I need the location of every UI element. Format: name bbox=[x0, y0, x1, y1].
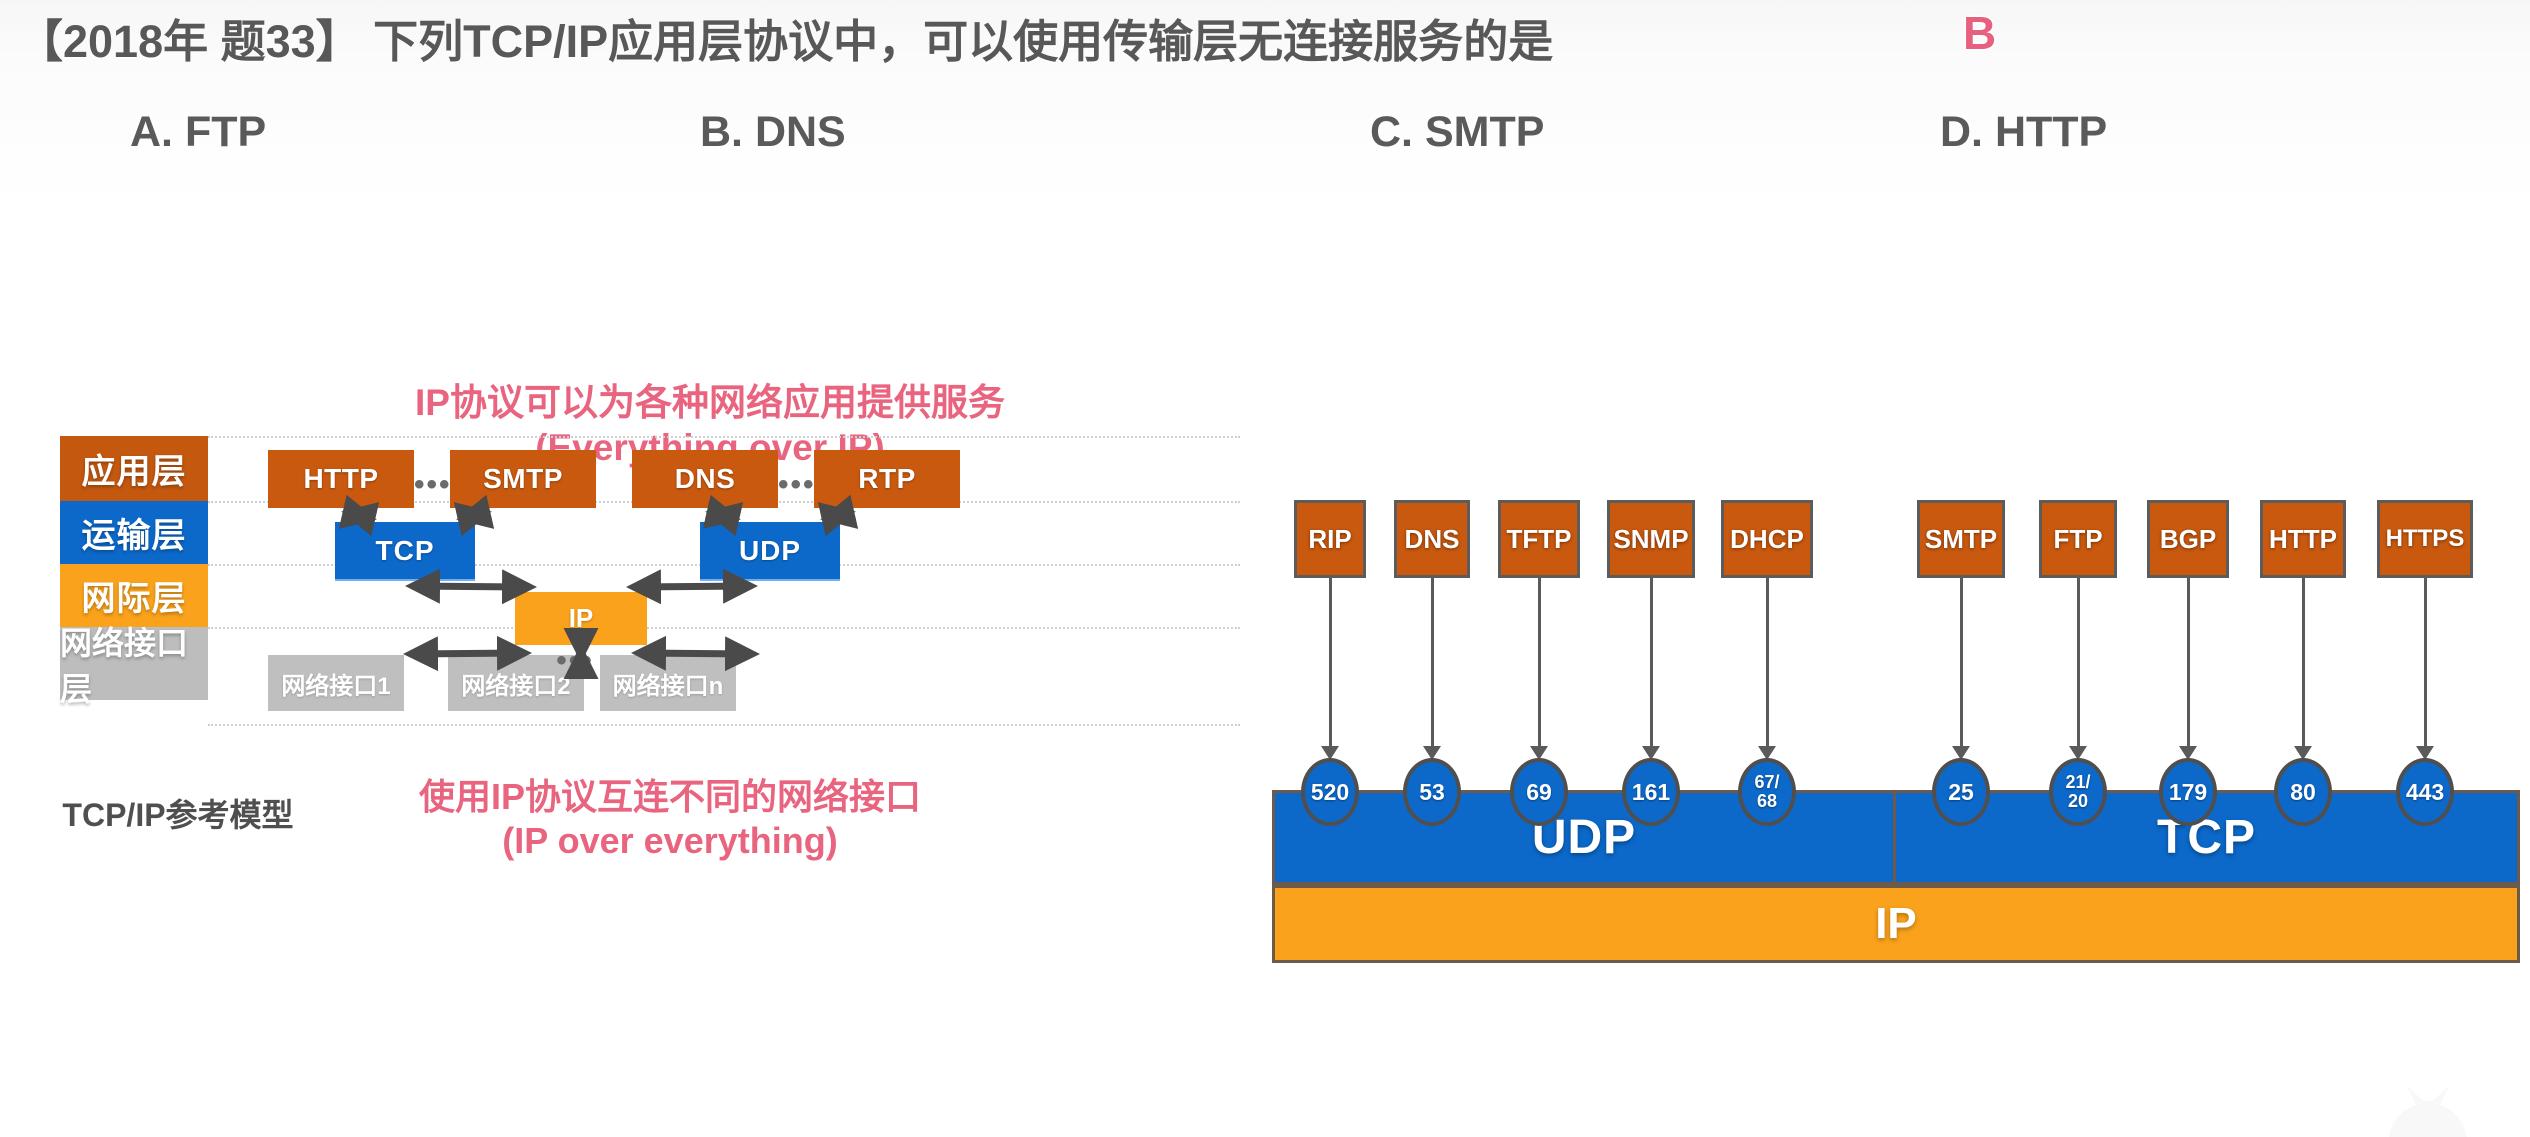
port-value-dhcp-line2: 68 bbox=[1757, 792, 1777, 811]
right-protocol-dns: DNS bbox=[1394, 500, 1470, 578]
option-b[interactable]: B. DNS bbox=[700, 108, 846, 157]
option-d[interactable]: D. HTTP bbox=[1940, 108, 2107, 157]
answer-badge: B bbox=[1963, 6, 1996, 60]
port-circle-smtp: 25 bbox=[1932, 758, 1990, 826]
left-caption-bottom-line1: 使用IP协议互连不同的网络接口 bbox=[300, 775, 1040, 819]
transport-layer-bar: UDP TCP bbox=[1272, 790, 2520, 885]
connector-line-dhcp bbox=[1766, 578, 1769, 750]
port-value-ftp-line1: 21/ bbox=[2065, 773, 2090, 792]
guide-line-bottom bbox=[208, 724, 1240, 726]
left-caption-bottom-line2: (IP over everything) bbox=[300, 819, 1040, 863]
connector-line-smtp bbox=[1960, 578, 1963, 750]
port-circle-snmp: 161 bbox=[1622, 758, 1680, 826]
port-circle-tftp: 69 bbox=[1510, 758, 1568, 826]
right-protocol-smtp: SMTP bbox=[1917, 500, 2005, 578]
option-a[interactable]: A. FTP bbox=[130, 108, 266, 157]
layer-block-link: 网络接口层 bbox=[60, 627, 208, 700]
ellipsis-dots-1: ••• bbox=[414, 470, 450, 500]
port-value-dhcp-line1: 67/ bbox=[1754, 773, 1779, 792]
layer-block-application: 应用层 bbox=[60, 436, 208, 501]
question-line: 【2018年 题33】 下列TCP/IP应用层协议中，可以使用传输层无连接服务的… bbox=[18, 6, 2018, 68]
left-protocol-dns: DNS bbox=[632, 450, 778, 508]
left-protocol-smtp: SMTP bbox=[450, 450, 596, 508]
layer-block-transport: 运输层 bbox=[60, 501, 208, 564]
connector-line-http bbox=[2302, 578, 2305, 750]
model-label: TCP/IP参考模型 bbox=[38, 790, 318, 836]
left-network-interface-1: 网络接口1 bbox=[268, 655, 404, 711]
connector-line-bgp bbox=[2187, 578, 2190, 750]
port-circle-rip: 520 bbox=[1301, 758, 1359, 826]
left-caption-bottom: 使用IP协议互连不同的网络接口 (IP over everything) bbox=[300, 775, 1040, 863]
tcpip-reference-model-diagram: IP协议可以为各种网络应用提供服务 (Everything over IP) 应… bbox=[60, 380, 1240, 1080]
port-circle-dns: 53 bbox=[1403, 758, 1461, 826]
left-protocol-rtp: RTP bbox=[814, 450, 960, 508]
right-protocol-dhcp: DHCP bbox=[1721, 500, 1813, 578]
ellipsis-dots-3: ••• bbox=[555, 646, 595, 676]
port-value-bgp: 179 bbox=[2169, 780, 2207, 804]
port-value-dns: 53 bbox=[1419, 780, 1445, 804]
ip-layer-bar: IP bbox=[1272, 885, 2520, 963]
port-circle-dhcp: 67/ 68 bbox=[1738, 758, 1796, 826]
left-protocol-http: HTTP bbox=[268, 450, 414, 508]
connector-line-dns bbox=[1431, 578, 1434, 750]
port-circle-https: 443 bbox=[2396, 758, 2454, 826]
port-circle-ftp: 21/ 20 bbox=[2049, 758, 2107, 826]
port-value-snmp: 161 bbox=[1632, 780, 1670, 804]
watermark-icon bbox=[2368, 1075, 2488, 1137]
slide-canvas: 【2018年 题33】 下列TCP/IP应用层协议中，可以使用传输层无连接服务的… bbox=[0, 0, 2530, 1137]
port-value-https: 443 bbox=[2406, 780, 2444, 804]
connector-line-ftp bbox=[2077, 578, 2080, 750]
port-value-smtp: 25 bbox=[1948, 780, 1974, 804]
guide-line-internet-link bbox=[208, 627, 1240, 629]
left-transport-tcp: TCP bbox=[335, 522, 475, 579]
connector-line-tftp bbox=[1538, 578, 1541, 750]
left-internet-ip: IP bbox=[515, 592, 647, 645]
option-c[interactable]: C. SMTP bbox=[1370, 108, 1544, 157]
port-value-rip: 520 bbox=[1311, 780, 1349, 804]
right-protocol-https: HTTPS bbox=[2377, 500, 2473, 578]
left-caption-top-line1: IP协议可以为各种网络应用提供服务 bbox=[340, 380, 1080, 425]
port-value-http: 80 bbox=[2290, 780, 2316, 804]
ports-over-transport-diagram: RIP DNS TFTP SNMP DHCP SMTP FTP BGP HTTP… bbox=[1272, 500, 2520, 970]
port-circle-http: 80 bbox=[2274, 758, 2332, 826]
guide-line-top bbox=[208, 436, 1240, 438]
connector-line-rip bbox=[1329, 578, 1332, 750]
right-protocol-bgp: BGP bbox=[2147, 500, 2229, 578]
ellipsis-dots-2: ••• bbox=[778, 470, 814, 500]
port-value-ftp-line2: 20 bbox=[2068, 792, 2088, 811]
connector-line-https bbox=[2424, 578, 2427, 750]
right-protocol-snmp: SNMP bbox=[1607, 500, 1695, 578]
right-protocol-rip: RIP bbox=[1294, 500, 1366, 578]
right-protocol-tftp: TFTP bbox=[1498, 500, 1580, 578]
left-transport-udp: UDP bbox=[700, 522, 840, 579]
left-network-interface-n: 网络接口n bbox=[600, 655, 736, 711]
right-protocol-ftp: FTP bbox=[2039, 500, 2117, 578]
question-text: 【2018年 题33】 下列TCP/IP应用层协议中，可以使用传输层无连接服务的… bbox=[18, 5, 1553, 70]
udp-bar: UDP bbox=[1275, 793, 1896, 882]
port-circle-bgp: 179 bbox=[2159, 758, 2217, 826]
port-value-tftp: 69 bbox=[1526, 780, 1552, 804]
connector-line-snmp bbox=[1650, 578, 1653, 750]
right-protocol-http: HTTP bbox=[2260, 500, 2346, 578]
